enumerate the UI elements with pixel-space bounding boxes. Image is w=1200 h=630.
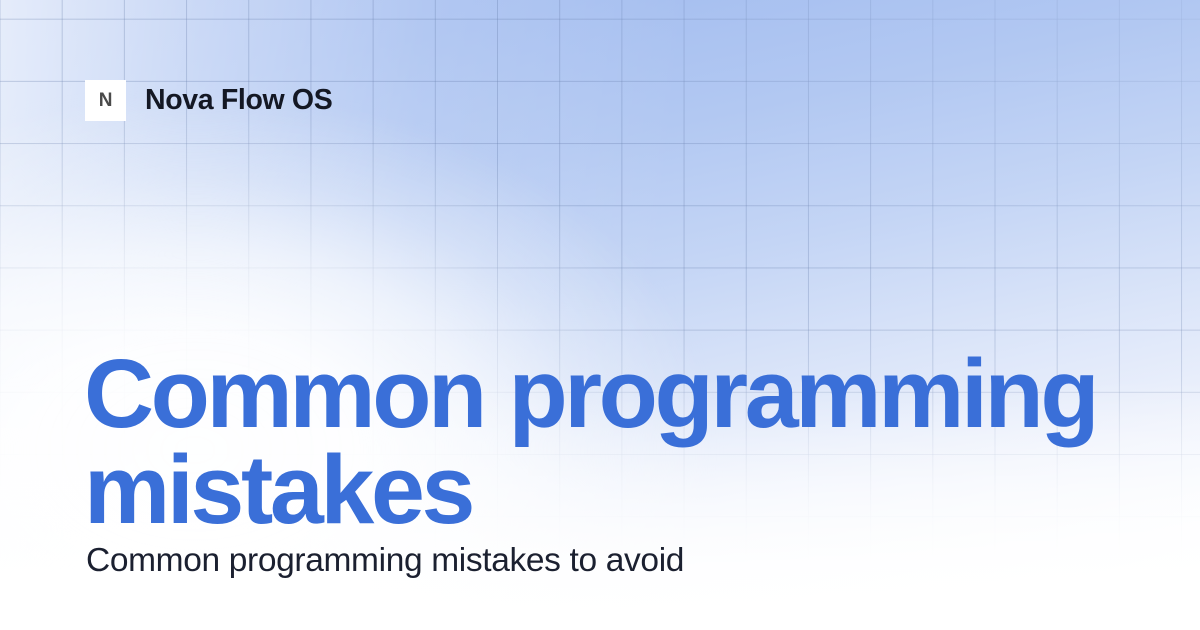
page-title: Common programming mistakes [84,346,1134,538]
page-subtitle: Common programming mistakes to avoid [86,540,684,582]
brand-lockup: N Nova Flow OS [85,80,332,121]
brand-name-label: Nova Flow OS [145,86,332,115]
nova-flow-os-logo-icon: N [85,80,126,121]
logo-letter-glyph: N [99,91,113,110]
og-card-canvas: N Nova Flow OS Common programming mistak… [0,0,1200,630]
card-content: N Nova Flow OS Common programming mistak… [0,0,1200,630]
